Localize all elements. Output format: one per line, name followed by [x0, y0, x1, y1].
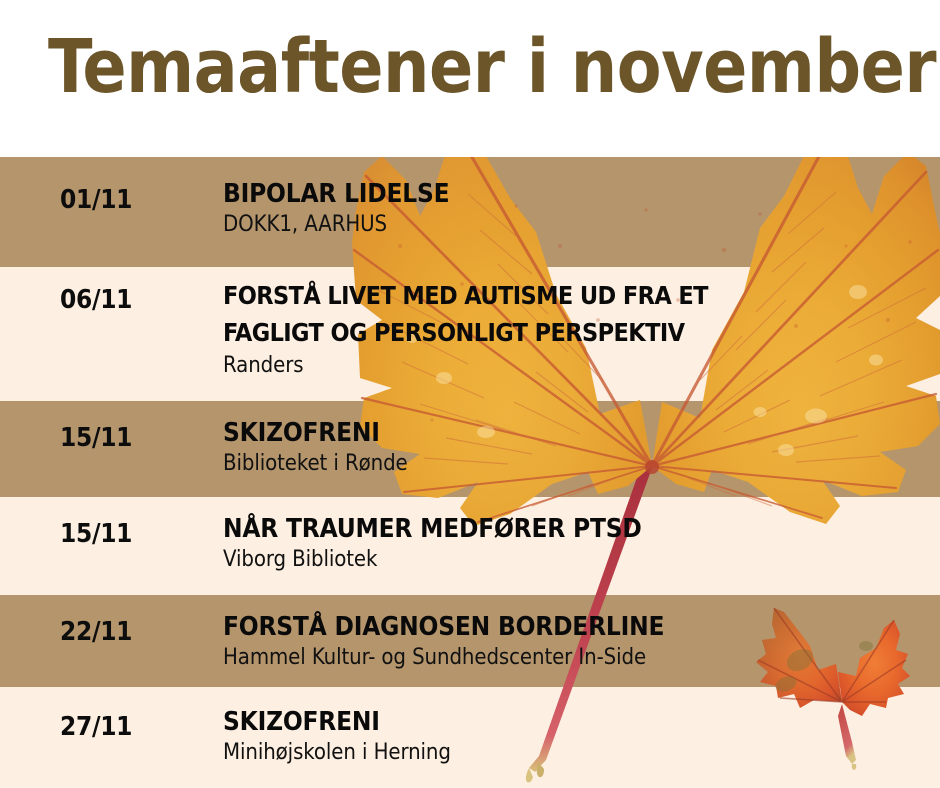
event-date: 06/11	[60, 285, 132, 315]
event-date: 15/11	[60, 423, 132, 453]
event-venue: Viborg Bibliotek	[223, 547, 923, 572]
poster-canvas: Temaaftener i november 01/11BIPOLAR LIDE…	[0, 0, 940, 788]
schedule-row[interactable]: 06/11FORSTÅ LIVET MED AUTISME UD FRA ET …	[0, 267, 940, 401]
event-venue: Biblioteket i Rønde	[223, 451, 923, 476]
schedule-row[interactable]: 22/11FORSTÅ DIAGNOSEN BORDERLINEHammel K…	[0, 595, 940, 687]
event-date: 27/11	[60, 712, 132, 742]
event-venue: Randers	[223, 353, 923, 378]
event-title: FORSTÅ LIVET MED AUTISME UD FRA ET FAGLI…	[223, 277, 923, 351]
event-title: SKIZOFRENI	[223, 707, 923, 738]
event-date: 01/11	[60, 185, 132, 215]
event-body: FORSTÅ LIVET MED AUTISME UD FRA ET FAGLI…	[223, 277, 923, 378]
event-title: BIPOLAR LIDELSE	[223, 179, 923, 210]
event-body: SKIZOFRENIBiblioteket i Rønde	[223, 418, 923, 476]
event-venue: Hammel Kultur- og Sundhedscenter In-Side	[223, 645, 923, 670]
event-title: NÅR TRAUMER MEDFØRER PTSD	[223, 514, 923, 545]
event-body: SKIZOFRENIMinihøjskolen i Herning	[223, 707, 923, 765]
schedule-row[interactable]: 15/11NÅR TRAUMER MEDFØRER PTSDViborg Bib…	[0, 497, 940, 595]
title-bar: Temaaftener i november	[0, 0, 940, 157]
event-body: NÅR TRAUMER MEDFØRER PTSDViborg Bibliote…	[223, 514, 923, 572]
event-title: FORSTÅ DIAGNOSEN BORDERLINE	[223, 612, 923, 643]
event-date: 22/11	[60, 617, 132, 647]
schedule-row[interactable]: 01/11BIPOLAR LIDELSEDOKK1, AARHUS	[0, 157, 940, 267]
event-body: BIPOLAR LIDELSEDOKK1, AARHUS	[223, 179, 923, 237]
event-date: 15/11	[60, 519, 132, 549]
schedule-row[interactable]: 15/11SKIZOFRENIBiblioteket i Rønde	[0, 401, 940, 497]
event-venue: Minihøjskolen i Herning	[223, 740, 923, 765]
event-title: SKIZOFRENI	[223, 418, 923, 449]
event-body: FORSTÅ DIAGNOSEN BORDERLINEHammel Kultur…	[223, 612, 923, 670]
schedule-row[interactable]: 27/11SKIZOFRENIMinihøjskolen i Herning	[0, 687, 940, 788]
event-venue: DOKK1, AARHUS	[223, 212, 923, 237]
page-title: Temaaftener i november	[48, 28, 936, 106]
